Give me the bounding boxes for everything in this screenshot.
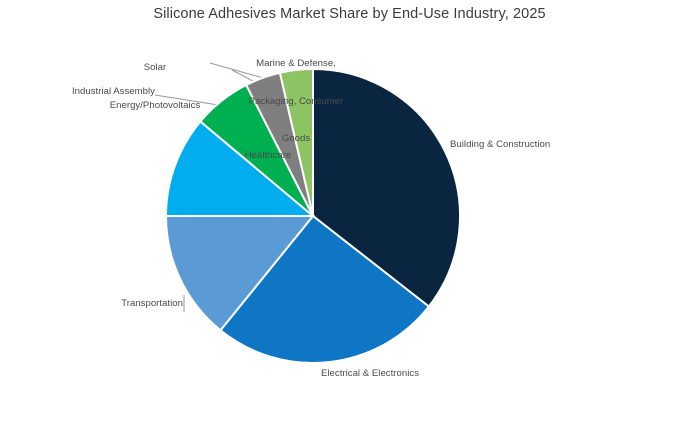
- slice-label-marine-line-2: Packaging, Consumer: [228, 96, 364, 109]
- slice-label-marine-line-1: Marine & Defense,: [228, 58, 364, 71]
- slice-label-marine-defense: Marine & Defense, Packaging, Consumer Go…: [228, 33, 364, 171]
- slice-label-building-construction: Building & Construction: [450, 139, 550, 152]
- pie-chart-figure: Silicone Adhesives Market Share by End-U…: [0, 0, 699, 431]
- slice-label-electrical-electronics: Electrical & Electronics: [255, 368, 485, 381]
- slice-label-solar-line-1: Solar: [95, 62, 215, 75]
- slice-label-transportation: Transportation: [0, 298, 183, 311]
- slice-label-marine-line-3: Goods: [228, 133, 364, 146]
- slice-label-solar-energy: Solar Energy/Photovoltaics: [95, 37, 215, 137]
- slice-label-solar-line-2: Energy/Photovoltaics: [95, 100, 215, 113]
